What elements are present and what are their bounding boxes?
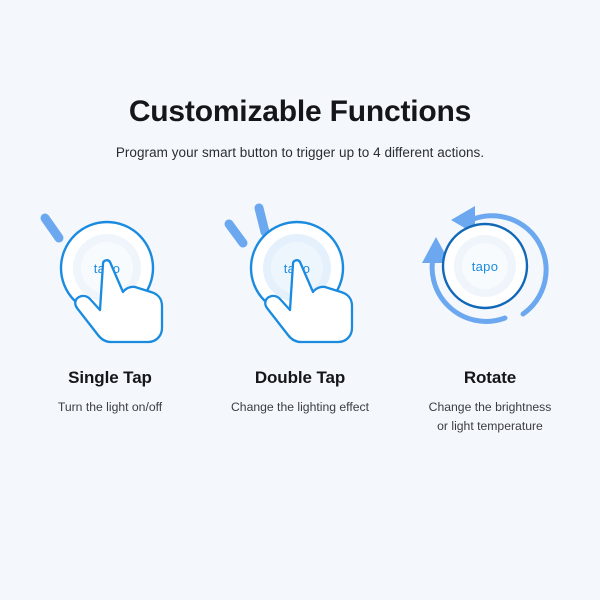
feature-description-line-1: Change the brightness	[429, 400, 552, 414]
feature-rotate: tapo Rotate Change the brightness or lig…	[395, 196, 585, 436]
feature-description: Turn the light on/off	[58, 398, 162, 417]
rotate-icon: tapo	[405, 196, 575, 356]
double-tap-icon: tapo	[215, 196, 385, 356]
feature-label: Single Tap	[68, 368, 152, 388]
feature-list: tapo Single Tap Turn the light on/off	[0, 196, 600, 436]
promo-page: Customizable Functions Program your smar…	[0, 0, 600, 600]
feature-label: Double Tap	[255, 368, 345, 388]
feature-double-tap: tapo Double Tap Change the lighting effe…	[205, 196, 395, 417]
page-title: Customizable Functions	[129, 95, 471, 128]
tapo-wordmark: tapo	[472, 259, 499, 274]
feature-label: Rotate	[464, 368, 516, 388]
feature-description: Change the lighting effect	[231, 398, 369, 417]
feature-single-tap: tapo Single Tap Turn the light on/off	[15, 196, 205, 417]
tap-mark-icon	[229, 208, 265, 243]
tap-mark-icon	[45, 218, 59, 238]
single-tap-icon: tapo	[25, 196, 195, 356]
feature-description: Change the brightness or light temperatu…	[429, 398, 552, 436]
page-subtitle: Program your smart button to trigger up …	[116, 145, 484, 160]
feature-description-line-2: or light temperature	[437, 419, 543, 433]
